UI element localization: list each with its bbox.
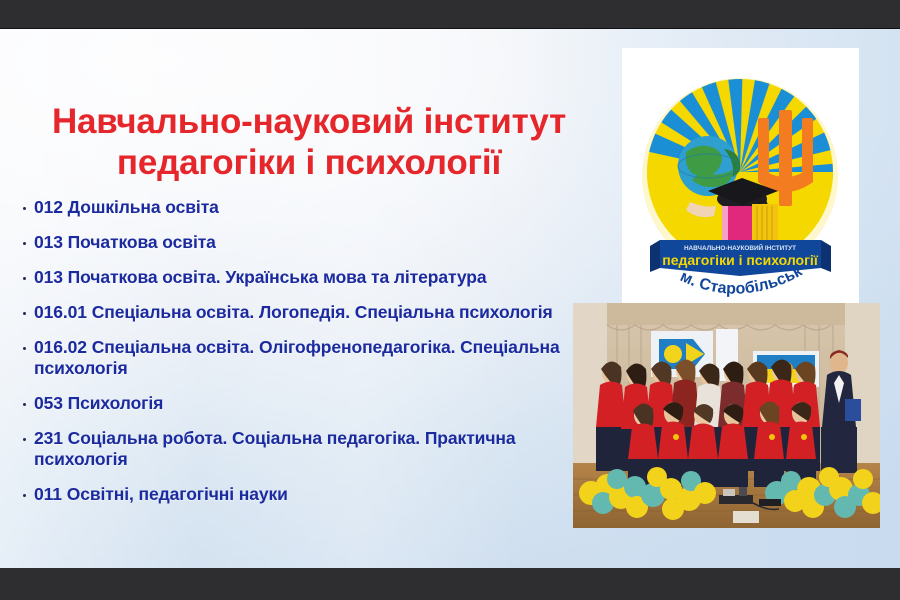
list-item: 016.01 Спеціальна освіта. Логопедія. Спе…	[14, 302, 570, 323]
list-item-label: 016.02 Спеціальна освіта. Олігофренопеда…	[34, 337, 570, 379]
list-item: 012 Дошкільна освіта	[14, 197, 570, 218]
bullet-dot-icon	[14, 393, 34, 406]
list-item: 016.02 Спеціальна освіта. Олігофренопеда…	[14, 337, 570, 379]
list-item-label: 013 Початкова освіта. Українська мова та…	[34, 267, 570, 288]
list-item: 053 Психологія	[14, 393, 570, 414]
list-item-label: 231 Соціальна робота. Соціальна педагогі…	[34, 428, 570, 470]
letterbox-top	[0, 0, 900, 29]
title-line-1: Навчально-науковий інститут	[16, 101, 602, 142]
list-item-label: 013 Початкова освіта	[34, 232, 570, 253]
list-item: 011 Освітні, педагогічні науки	[14, 484, 570, 505]
bullet-dot-icon	[14, 232, 34, 245]
institute-logo-icon: НАВЧАЛЬНО-НАУКОВИЙ ІНСТИТУТ педагогіки і…	[630, 54, 851, 297]
bullet-dot-icon	[14, 302, 34, 315]
bullet-dot-icon	[14, 267, 34, 280]
group-photo	[573, 303, 880, 528]
specialties-list: 012 Дошкільна освіта 013 Початкова освіт…	[14, 197, 570, 519]
list-item-label: 012 Дошкільна освіта	[34, 197, 570, 218]
title-line-2: педагогіки і психології	[16, 142, 602, 183]
bullet-dot-icon	[14, 484, 34, 497]
list-item-label: 011 Освітні, педагогічні науки	[34, 484, 570, 505]
page-title: Навчально-науковий інститут педагогіки і…	[16, 101, 602, 183]
bullet-dot-icon	[14, 337, 34, 350]
list-item: 231 Соціальна робота. Соціальна педагогі…	[14, 428, 570, 470]
logo-banner-top-text: НАВЧАЛЬНО-НАУКОВИЙ ІНСТИТУТ	[684, 243, 796, 252]
institute-logo-card: НАВЧАЛЬНО-НАУКОВИЙ ІНСТИТУТ педагогіки і…	[622, 48, 859, 307]
presentation-slide: Навчально-науковий інститут педагогіки і…	[0, 29, 900, 568]
list-item: 013 Початкова освіта. Українська мова та…	[14, 267, 570, 288]
list-item-label: 016.01 Спеціальна освіта. Логопедія. Спе…	[34, 302, 570, 323]
list-item: 013 Початкова освіта	[14, 232, 570, 253]
slide-viewer: Навчально-науковий інститут педагогіки і…	[0, 0, 900, 600]
bullet-dot-icon	[14, 428, 34, 441]
list-item-label: 053 Психологія	[34, 393, 570, 414]
bullet-dot-icon	[14, 197, 34, 210]
letterbox-bottom	[0, 568, 900, 600]
